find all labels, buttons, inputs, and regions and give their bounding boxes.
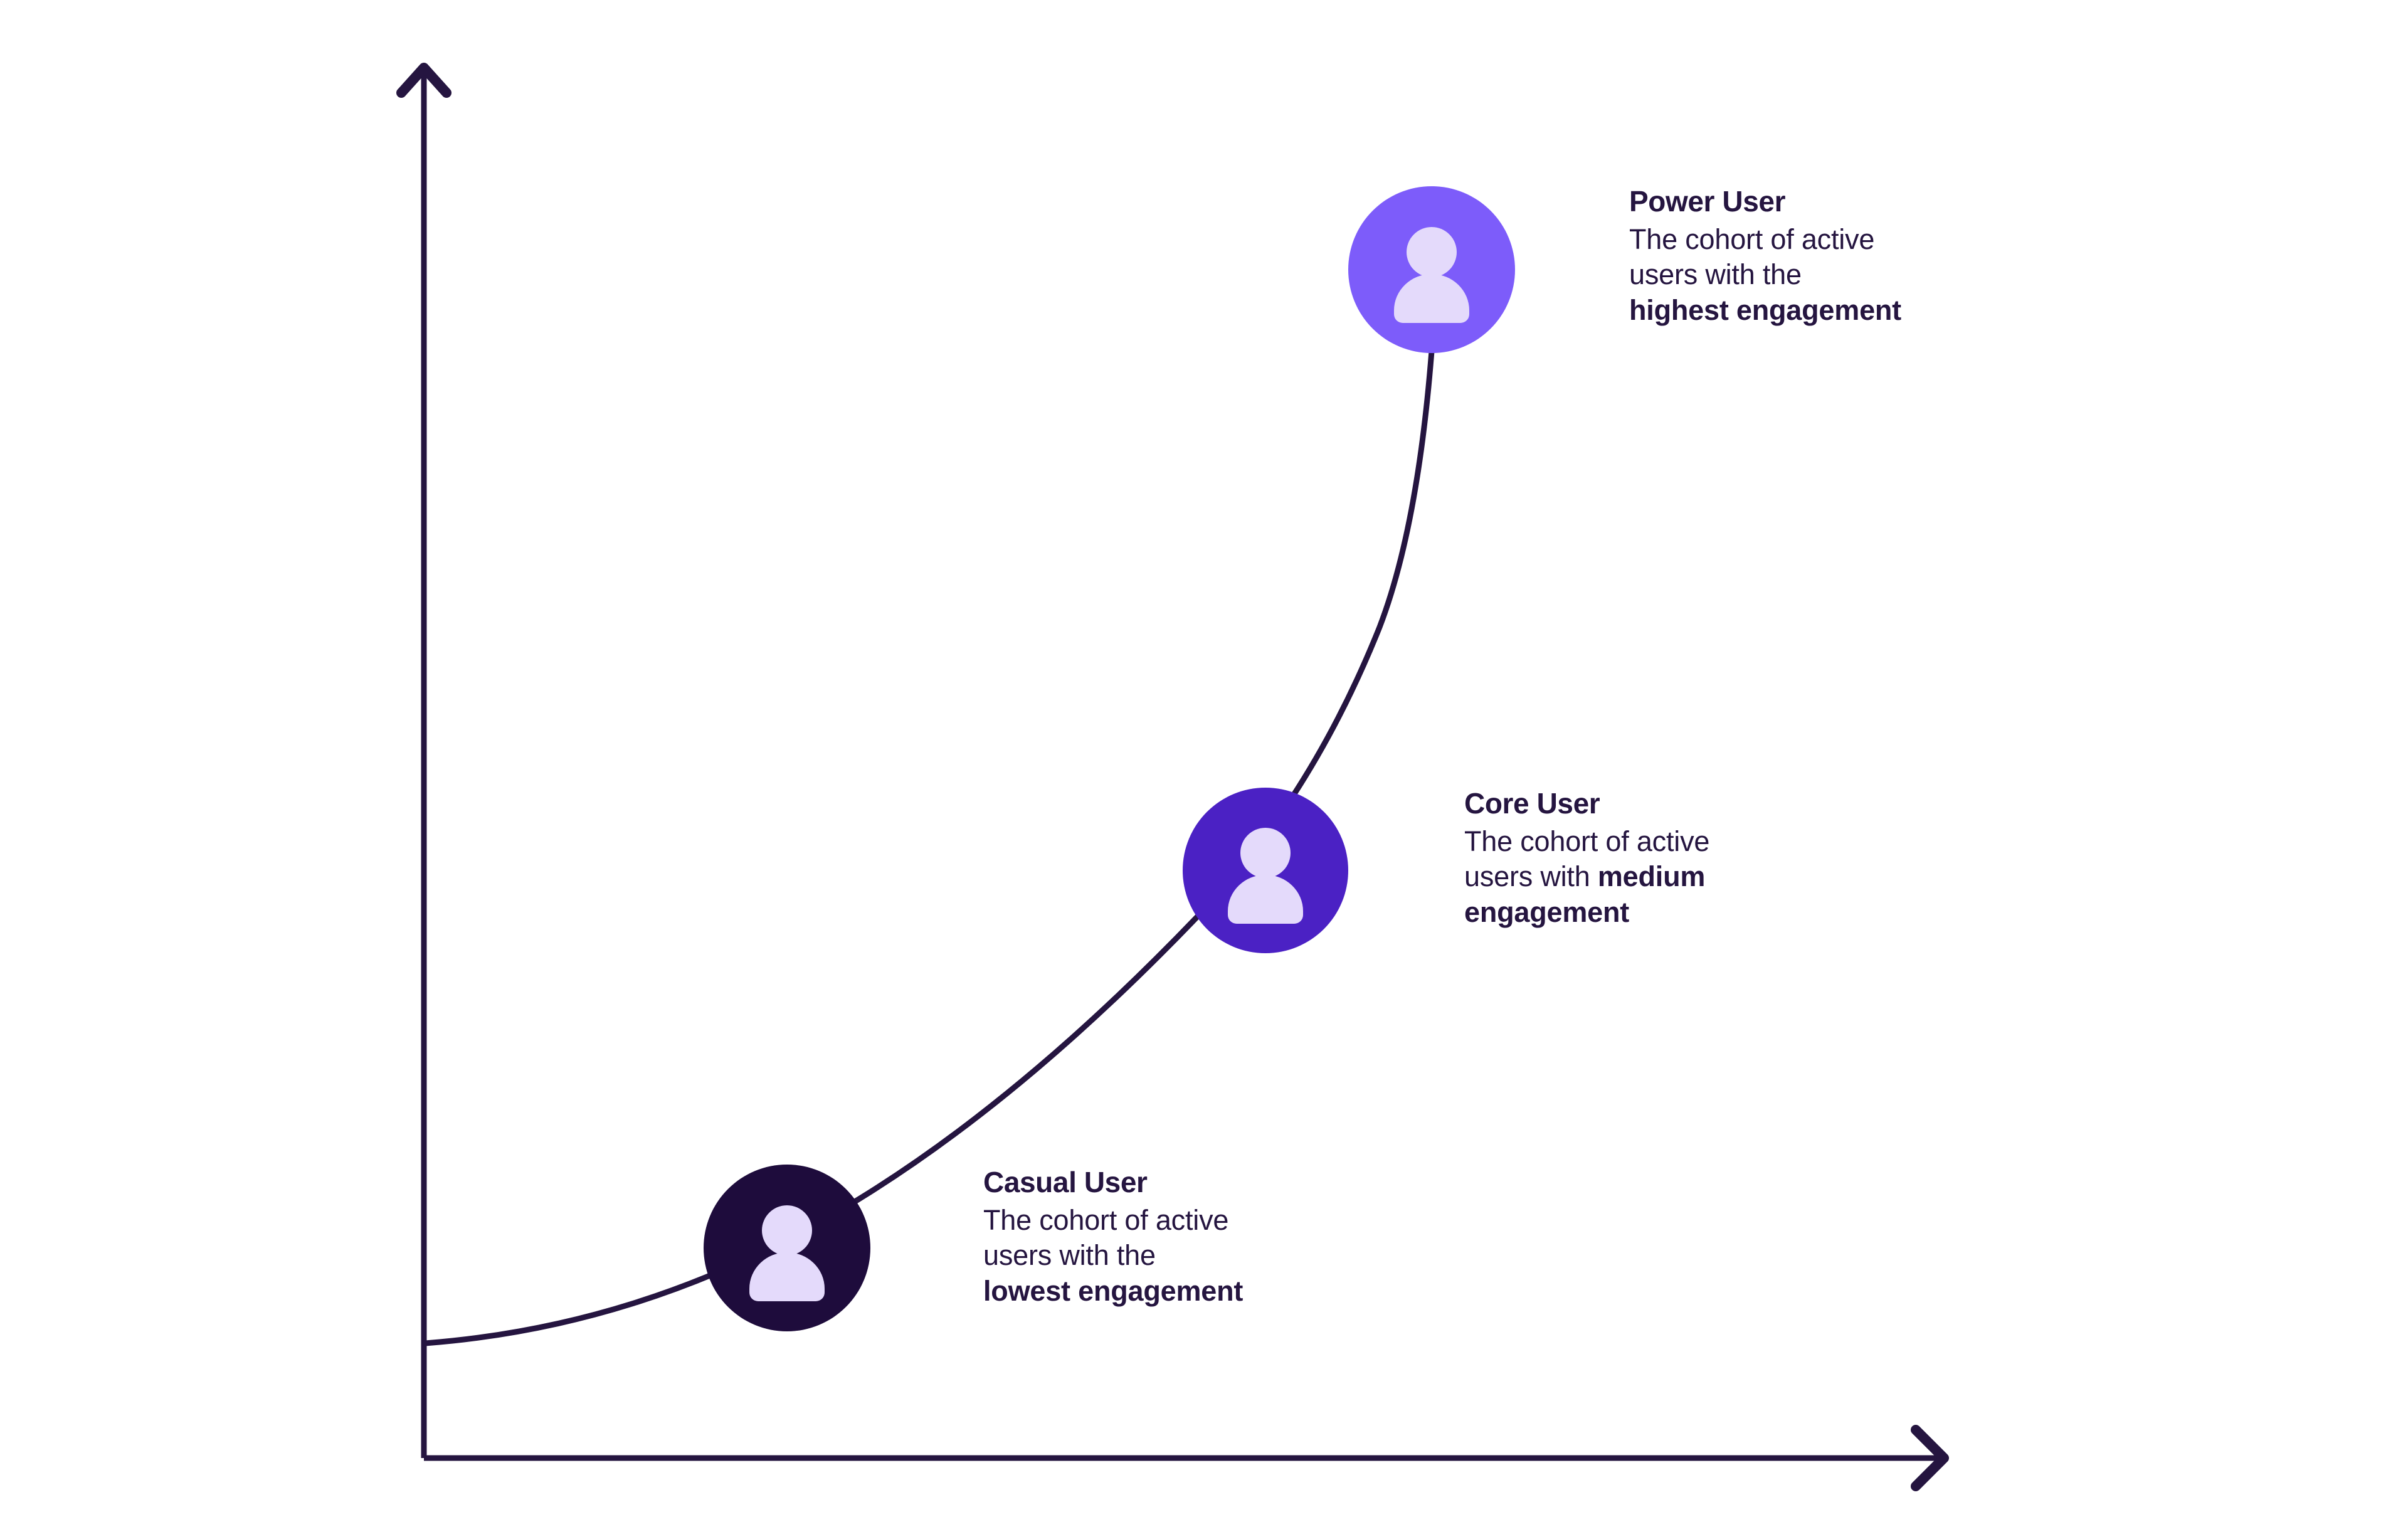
person-icon — [1348, 186, 1515, 353]
annotation-core-user-title: Core User — [1464, 789, 1978, 818]
desc-line-1: The cohort of active — [1464, 825, 1709, 857]
desc-line-2: users with the — [983, 1239, 1156, 1271]
annotation-power-user: Power User The cohort of activeusers wit… — [1629, 187, 2143, 328]
person-icon — [704, 1165, 870, 1331]
annotation-casual-user: Casual User The cohort of activeusers wi… — [983, 1168, 1497, 1309]
desc-line-3-emphasis: lowest engagement — [983, 1275, 1243, 1307]
diagram-canvas: Power User The cohort of activeusers wit… — [0, 0, 2408, 1522]
desc-line-1: The cohort of active — [1629, 223, 1874, 255]
annotation-casual-user-title: Casual User — [983, 1168, 1497, 1197]
annotation-casual-user-description: The cohort of activeusers with thelowest… — [983, 1203, 1497, 1309]
desc-line-3-emphasis: highest engagement — [1629, 294, 1901, 326]
desc-line-1: The cohort of active — [983, 1204, 1228, 1236]
desc-line-3-emphasis: engagement — [1464, 896, 1629, 928]
desc-line-2: users with the — [1629, 258, 1802, 290]
annotation-power-user-title: Power User — [1629, 187, 2143, 216]
desc-line-2-emphasis: medium — [1598, 860, 1705, 892]
annotation-core-user-description: The cohort of activeusers with mediumeng… — [1464, 824, 1978, 930]
cohort-marker-core-user[interactable] — [1183, 788, 1348, 953]
cohort-marker-casual-user[interactable] — [704, 1165, 870, 1331]
person-icon — [1183, 788, 1348, 953]
desc-line-2: users with — [1464, 860, 1598, 892]
cohort-marker-power-user[interactable] — [1348, 186, 1515, 353]
annotation-core-user: Core User The cohort of activeusers with… — [1464, 789, 1978, 930]
annotation-power-user-description: The cohort of activeusers with thehighes… — [1629, 222, 2143, 328]
